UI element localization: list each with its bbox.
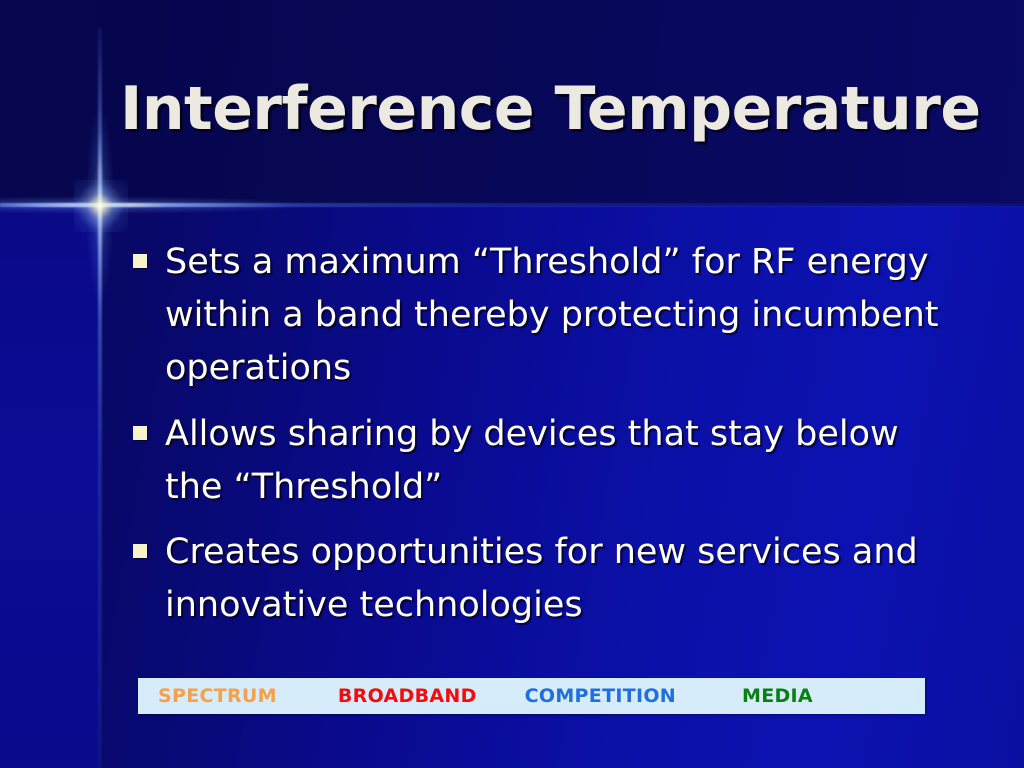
list-item-text: Allows sharing by devices that stay belo…: [165, 408, 963, 514]
square-bullet-icon: [133, 426, 147, 440]
list-item-text: Creates opportunities for new services a…: [165, 526, 963, 632]
list-item: Creates opportunities for new services a…: [133, 526, 963, 632]
starburst-highlight-icon: [74, 180, 128, 232]
list-item-text: Sets a maximum “Threshold” for RF energy…: [165, 236, 963, 396]
list-item: Allows sharing by devices that stay belo…: [133, 408, 963, 514]
footer-item-broadband: BROADBAND: [338, 685, 477, 707]
square-bullet-icon: [133, 254, 147, 268]
footer-item-spectrum: SPECTRUM: [158, 685, 277, 707]
presentation-slide: Interference Temperature Sets a maximum …: [0, 0, 1024, 768]
bullet-list: Sets a maximum “Threshold” for RF energy…: [133, 236, 963, 644]
slide-title: Interference Temperature: [120, 78, 980, 141]
footer-item-media: MEDIA: [742, 685, 813, 707]
list-item: Sets a maximum “Threshold” for RF energy…: [133, 236, 963, 396]
vertical-light-ray: [98, 28, 102, 768]
footer-item-competition: COMPETITION: [525, 685, 676, 707]
square-bullet-icon: [133, 544, 147, 558]
footer-category-bar: SPECTRUM BROADBAND COMPETITION MEDIA: [138, 678, 925, 714]
horizontal-light-ray: [0, 203, 1024, 207]
